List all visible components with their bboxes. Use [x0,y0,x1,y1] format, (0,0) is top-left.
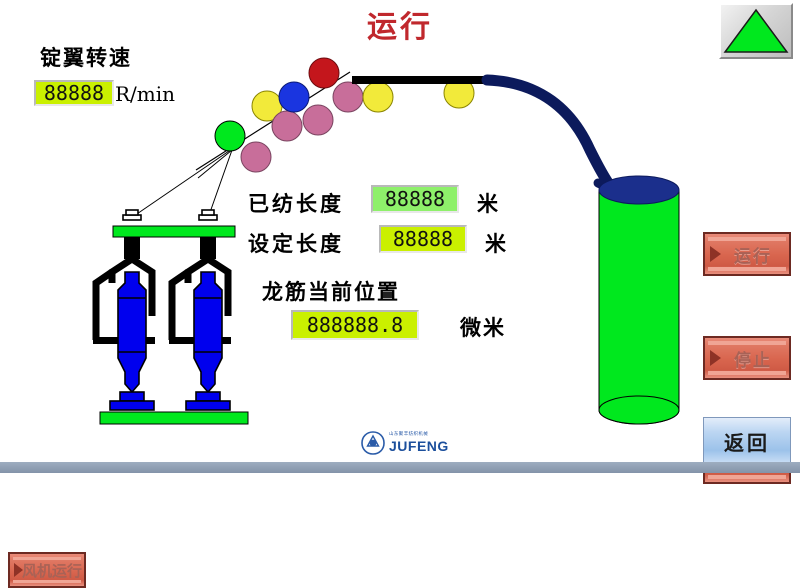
roving-ball-green [215,121,245,151]
page-title: 运行 [0,2,800,46]
top-platform [113,226,235,237]
bottom-status-bar [0,462,800,473]
yarn-guide-line-right [208,150,232,218]
back-button[interactable]: 返回 [703,417,791,465]
roving-ball-yellow-2 [363,82,393,112]
yarn-guide-line-left [131,151,229,218]
base-platform [100,412,248,424]
rib-position-label: 龙筋当前位置 [262,276,400,306]
stop-button-label: 停止 [734,346,772,371]
button-highlight-bottom [708,371,786,375]
play-arrow-icon [14,563,23,577]
rib-position-value[interactable]: 888888.8 [291,310,419,340]
roving-ball-pink-4 [333,82,363,112]
bobbin-unit-left [93,237,155,410]
roving-ball-blue [279,82,309,112]
fan-run-button-label: 风机运行 [22,560,82,581]
bobbin-unit-right [169,237,231,410]
button-highlight-bottom [708,267,786,271]
button-highlight-bottom [13,580,81,583]
flyer-bobbin-assembly [93,210,248,424]
triangle-up-icon [721,5,791,57]
roving-ball-pink-2 [272,111,302,141]
roving-ball-yellow-1 [252,91,282,121]
play-arrow-icon [710,246,721,262]
flyer-speed-label: 锭翼转速 [40,42,132,72]
incline-rail [196,72,350,170]
yarn-guide-line-aux [198,150,232,178]
spindle-cap-right [199,210,217,220]
stop-button[interactable]: 停止 [703,336,791,380]
spindle-cap-left [123,210,141,220]
sliver-can [599,176,679,424]
spun-length-label: 已纺长度 [248,188,344,218]
hmi-screen: 运行 锭翼转速 88888 R/min 已纺长度 88888 米 设定长度 88… [0,0,800,473]
fan-run-button[interactable]: 风机运行 [8,552,86,588]
button-highlight-top [708,341,786,345]
roving-ball-yellow-3 [444,78,474,108]
sliver-rope-tip [598,183,622,192]
spun-length-value[interactable]: 88888 [371,185,459,213]
play-arrow-icon [710,350,721,366]
set-length-unit: 米 [485,228,506,258]
roving-ball-group [215,58,474,172]
roving-ball-red [309,58,339,88]
button-highlight-top [13,557,81,560]
set-length-value[interactable]: 88888 [379,225,467,253]
flyer-speed-value[interactable]: 88888 [34,80,114,106]
status-indicator-panel[interactable] [719,3,793,59]
spun-length-unit: 米 [477,188,498,218]
sliver-rope [487,80,617,192]
run-button-label: 运行 [734,242,772,267]
roving-ball-pink-1 [241,142,271,172]
flyer-speed-unit: R/min [115,82,175,106]
rib-position-unit: 微米 [460,312,506,342]
logo-wordmark: JUFENG [389,439,449,453]
button-highlight-bottom [708,475,786,479]
top-rail [352,76,497,84]
roving-ball-pink-3 [303,105,333,135]
set-length-label: 设定长度 [248,228,344,258]
status-bar-fill [0,462,800,473]
button-highlight-top [708,237,786,241]
company-logo: 山东聚丰纺织机械 JUFENG [360,426,470,460]
run-button[interactable]: 运行 [703,232,791,276]
can-top [599,176,679,204]
jufeng-mark-icon [360,430,386,456]
